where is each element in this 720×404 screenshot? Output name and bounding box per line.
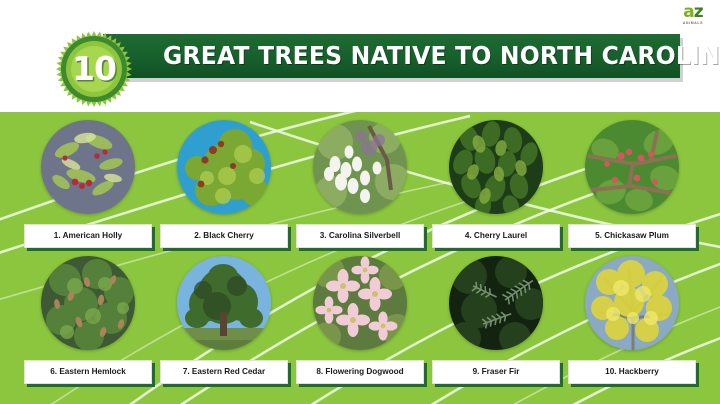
label-card-7: 7. Eastern Red Cedar	[160, 360, 288, 384]
tree-grid-row-2: 6. Eastern Hemlock	[0, 252, 720, 398]
label-card-2: 2. Black Cherry	[160, 224, 288, 248]
number-badge: 10	[55, 30, 133, 108]
tree-card-5[interactable]: 5. Chickasaw Plum	[568, 116, 696, 262]
label-card-3: 3. Carolina Silverbell	[296, 224, 424, 248]
cherry-laurel-photo	[449, 120, 543, 214]
tree-card-2[interactable]: 2. Black Cherry	[160, 116, 288, 262]
brand-logo-letter-z: z	[694, 2, 703, 22]
tree-grid-row-1: 1. American Holly	[0, 116, 720, 262]
tree-label-7: 7. Eastern Red Cedar	[183, 367, 265, 376]
tree-card-6[interactable]: 6. Eastern Hemlock	[24, 252, 152, 398]
flowering-dogwood-photo	[313, 256, 407, 350]
black-cherry-photo	[177, 120, 271, 214]
tree-card-3[interactable]: 3. Carolina Silverbell	[296, 116, 424, 262]
tree-card-4[interactable]: 4. Cherry Laurel	[432, 116, 560, 262]
tree-card-1[interactable]: 1. American Holly	[24, 116, 152, 262]
label-card-4: 4. Cherry Laurel	[432, 224, 560, 248]
fraser-fir-photo	[449, 256, 543, 350]
label-card-8: 8. Flowering Dogwood	[296, 360, 424, 384]
tree-label-8: 8. Flowering Dogwood	[316, 367, 403, 376]
page-title: GREAT TREES NATIVE TO NORTH CAROLINA	[163, 42, 638, 72]
tree-card-8[interactable]: 8. Flowering Dogwood	[296, 252, 424, 398]
tree-label-5: 5. Chickasaw Plum	[595, 231, 669, 240]
hackberry-photo	[585, 256, 679, 350]
label-card-5: 5. Chickasaw Plum	[568, 224, 696, 248]
badge-number: 10	[55, 30, 133, 108]
tree-label-10: 10. Hackberry	[605, 367, 659, 376]
brand-logo-subtitle: ANIMALS	[676, 22, 710, 25]
tree-label-1: 1. American Holly	[54, 231, 122, 240]
tree-grid: 1. American Holly	[0, 112, 720, 404]
brand-logo-mark: az	[676, 4, 710, 21]
label-card-10: 10. Hackberry	[568, 360, 696, 384]
label-card-6: 6. Eastern Hemlock	[24, 360, 152, 384]
infographic-root: az ANIMALS GREAT TREES NATIVE TO NORTH C…	[0, 0, 720, 404]
chickasaw-plum-photo	[585, 120, 679, 214]
label-card-9: 9. Fraser Fir	[432, 360, 560, 384]
label-card-1: 1. American Holly	[24, 224, 152, 248]
carolina-silverbell-photo	[313, 120, 407, 214]
tree-label-6: 6. Eastern Hemlock	[50, 367, 126, 376]
eastern-red-cedar-photo	[177, 256, 271, 350]
brand-logo[interactable]: az ANIMALS	[676, 4, 710, 30]
tree-label-9: 9. Fraser Fir	[473, 367, 520, 376]
header: GREAT TREES NATIVE TO NORTH CAROLINA 10	[55, 30, 680, 82]
tree-label-3: 3. Carolina Silverbell	[320, 231, 401, 240]
american-holly-photo	[41, 120, 135, 214]
content-panel: 1. American Holly	[0, 112, 720, 404]
tree-card-9[interactable]: 9. Fraser Fir	[432, 252, 560, 398]
eastern-hemlock-photo	[41, 256, 135, 350]
tree-card-7[interactable]: 7. Eastern Red Cedar	[160, 252, 288, 398]
tree-label-2: 2. Black Cherry	[194, 231, 254, 240]
brand-logo-letter-a: a	[683, 2, 693, 22]
tree-card-10[interactable]: 10. Hackberry	[568, 252, 696, 398]
tree-label-4: 4. Cherry Laurel	[465, 231, 527, 240]
